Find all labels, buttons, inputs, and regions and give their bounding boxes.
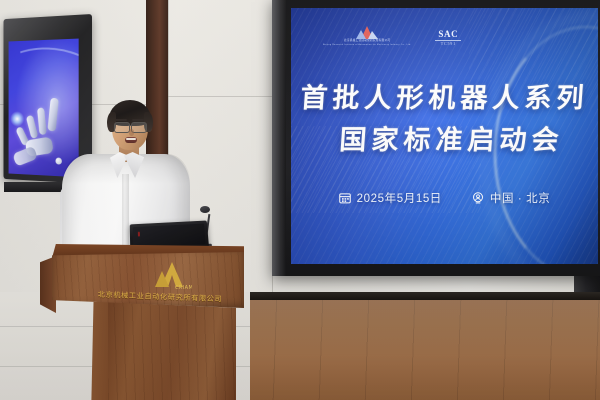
slide-place: 中国 · 北京 [472, 190, 550, 206]
institute-logo-name: 北京机械工业自动化研究所有限公司 [344, 40, 390, 43]
podium-body [108, 302, 236, 400]
sac-logo-sub: TC591 [441, 42, 456, 46]
sac-logo-main: SAC [438, 30, 458, 39]
speaker-teeth [126, 138, 136, 140]
speaker-nose [129, 129, 134, 136]
podium: CRIAM 北京机械工业自动化研究所有限公司 [52, 244, 244, 400]
laptop-logo-mark [138, 232, 140, 237]
slide-title-line-1: 首批人形机器人系列 [291, 78, 598, 120]
speaker-brow-left [115, 119, 127, 121]
svg-text:CRIAM: CRIAM [175, 285, 192, 291]
aux-display-indicator [55, 158, 61, 165]
slide-place-text: 中国 · 北京 [490, 190, 550, 206]
podium-left-leg [80, 302, 110, 400]
slide-date: 2025年5月15日 [339, 190, 442, 206]
slide-title-line-2: 国家标准启动会 [291, 120, 598, 162]
speaker-brow-right [132, 119, 144, 121]
sac-logo: SAC TC591 [435, 30, 461, 47]
institute-logo-subname: Beijing Research Institute of Automation… [323, 44, 411, 46]
criam-mountain-emblem-icon: CRIAM [152, 261, 192, 291]
main-presentation-display[interactable]: 北京机械工业自动化研究所有限公司 Beijing Research Instit… [272, 0, 600, 276]
slide-logo-row: 北京机械工业自动化研究所有限公司 Beijing Research Instit… [323, 26, 461, 46]
slide-meta-row: 2025年5月15日 中国 · 北京 [291, 190, 598, 206]
eyeglasses-lens-left [114, 122, 130, 133]
main-display-bezel-left-edge [272, 0, 286, 276]
slide-date-text: 2025年5月15日 [357, 190, 442, 206]
mountain-peak-logo-icon [356, 26, 378, 39]
slide-canvas: 北京机械工业自动化研究所有限公司 Beijing Research Instit… [291, 8, 598, 264]
slide-title: 首批人形机器人系列 国家标准启动会 [291, 78, 598, 162]
location-pin-icon [472, 192, 484, 204]
eyeglasses-bridge [128, 125, 132, 126]
podium-body-woodgrain [108, 302, 236, 400]
microphone-head [200, 206, 210, 213]
institute-logo: 北京机械工业自动化研究所有限公司 Beijing Research Instit… [323, 26, 411, 46]
calendar-icon [339, 192, 351, 204]
screenshot-root: 北京机械工业自动化研究所有限公司 Beijing Research Instit… [0, 0, 600, 400]
